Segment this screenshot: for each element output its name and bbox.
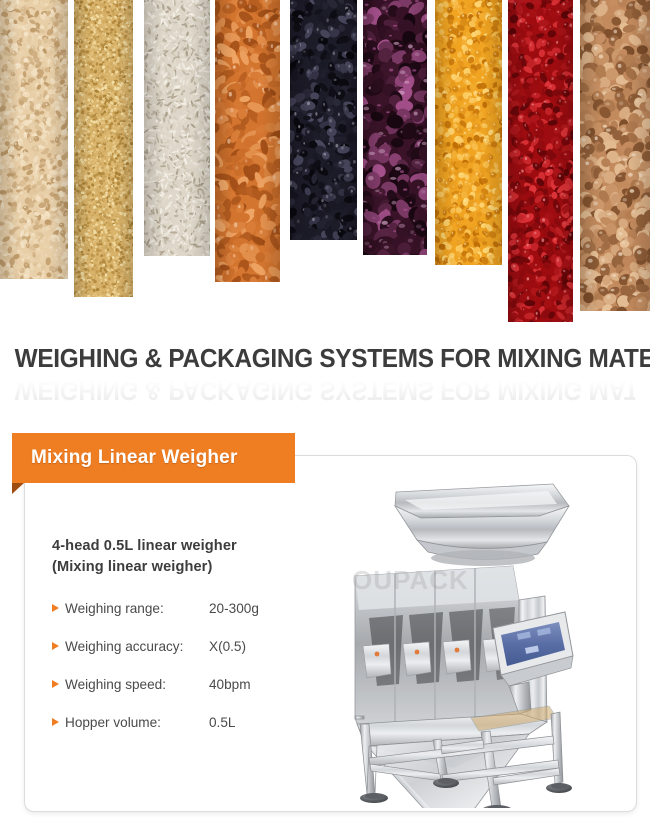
page-title: WEIGHING & PACKAGING SYSTEMS FOR MIXING … (15, 344, 636, 374)
product-card-banner: Mixing Linear Weigher (12, 433, 295, 483)
spec-block: 4-head 0.5L linear weigher (Mixing linea… (52, 536, 352, 752)
spec-label: Weighing speed: (65, 677, 209, 692)
grain-strip-black-beans (290, 0, 357, 240)
spec-value: X(0.5) (209, 639, 246, 654)
grain-strip-purple-speckled-beans (363, 0, 427, 255)
grain-strip-sunflower-kernels (144, 0, 210, 256)
spec-row: Weighing accuracy:X(0.5) (52, 638, 352, 676)
grain-strip-sesame-seeds (0, 0, 68, 279)
bullet-triangle-icon (52, 675, 65, 693)
product-headline: 4-head 0.5L linear weigher (Mixing linea… (52, 536, 352, 578)
spec-row: Weighing range:20-300g (52, 600, 352, 638)
spec-value: 40bpm (209, 677, 251, 692)
spec-value: 0.5L (209, 715, 235, 730)
spec-value: 20-300g (209, 601, 259, 616)
grain-strip-almonds (215, 0, 280, 282)
spec-label: Weighing range: (65, 601, 209, 616)
banner-fold-corner (12, 483, 24, 494)
spec-row: Hopper volume:0.5L (52, 714, 352, 752)
grain-strip-collage (0, 0, 650, 330)
page-title-block: WEIGHING & PACKAGING SYSTEMS FOR MIXING … (0, 344, 650, 420)
bullet-triangle-icon (52, 713, 65, 731)
bullet-triangle-icon (52, 599, 65, 617)
banner-label: Mixing Linear Weigher (12, 447, 238, 469)
product-page: WEIGHING & PACKAGING SYSTEMS FOR MIXING … (0, 0, 650, 838)
page-title-reflection: WEIGHING & PACKAGING SYSTEMS FOR MIXING … (15, 375, 636, 405)
grain-strip-corn-kernels (435, 0, 502, 265)
spec-list: Weighing range:20-300gWeighing accuracy:… (52, 600, 352, 752)
product-headline-line-2: (Mixing linear weigher) (52, 557, 352, 578)
bullet-triangle-icon (52, 637, 65, 655)
product-headline-line-1: 4-head 0.5L linear weigher (52, 536, 352, 557)
grain-strip-chickpeas (580, 0, 650, 311)
linear-weigher-machine-photo (333, 478, 633, 808)
spec-row: Weighing speed:40bpm (52, 676, 352, 714)
grain-strip-red-adzuki-beans (508, 0, 573, 322)
spec-label: Hopper volume: (65, 715, 209, 730)
machine-top-bowl (395, 484, 569, 566)
grain-strip-crushed-grain (74, 0, 133, 297)
machine-svg (333, 478, 633, 808)
spec-label: Weighing accuracy: (65, 639, 209, 654)
